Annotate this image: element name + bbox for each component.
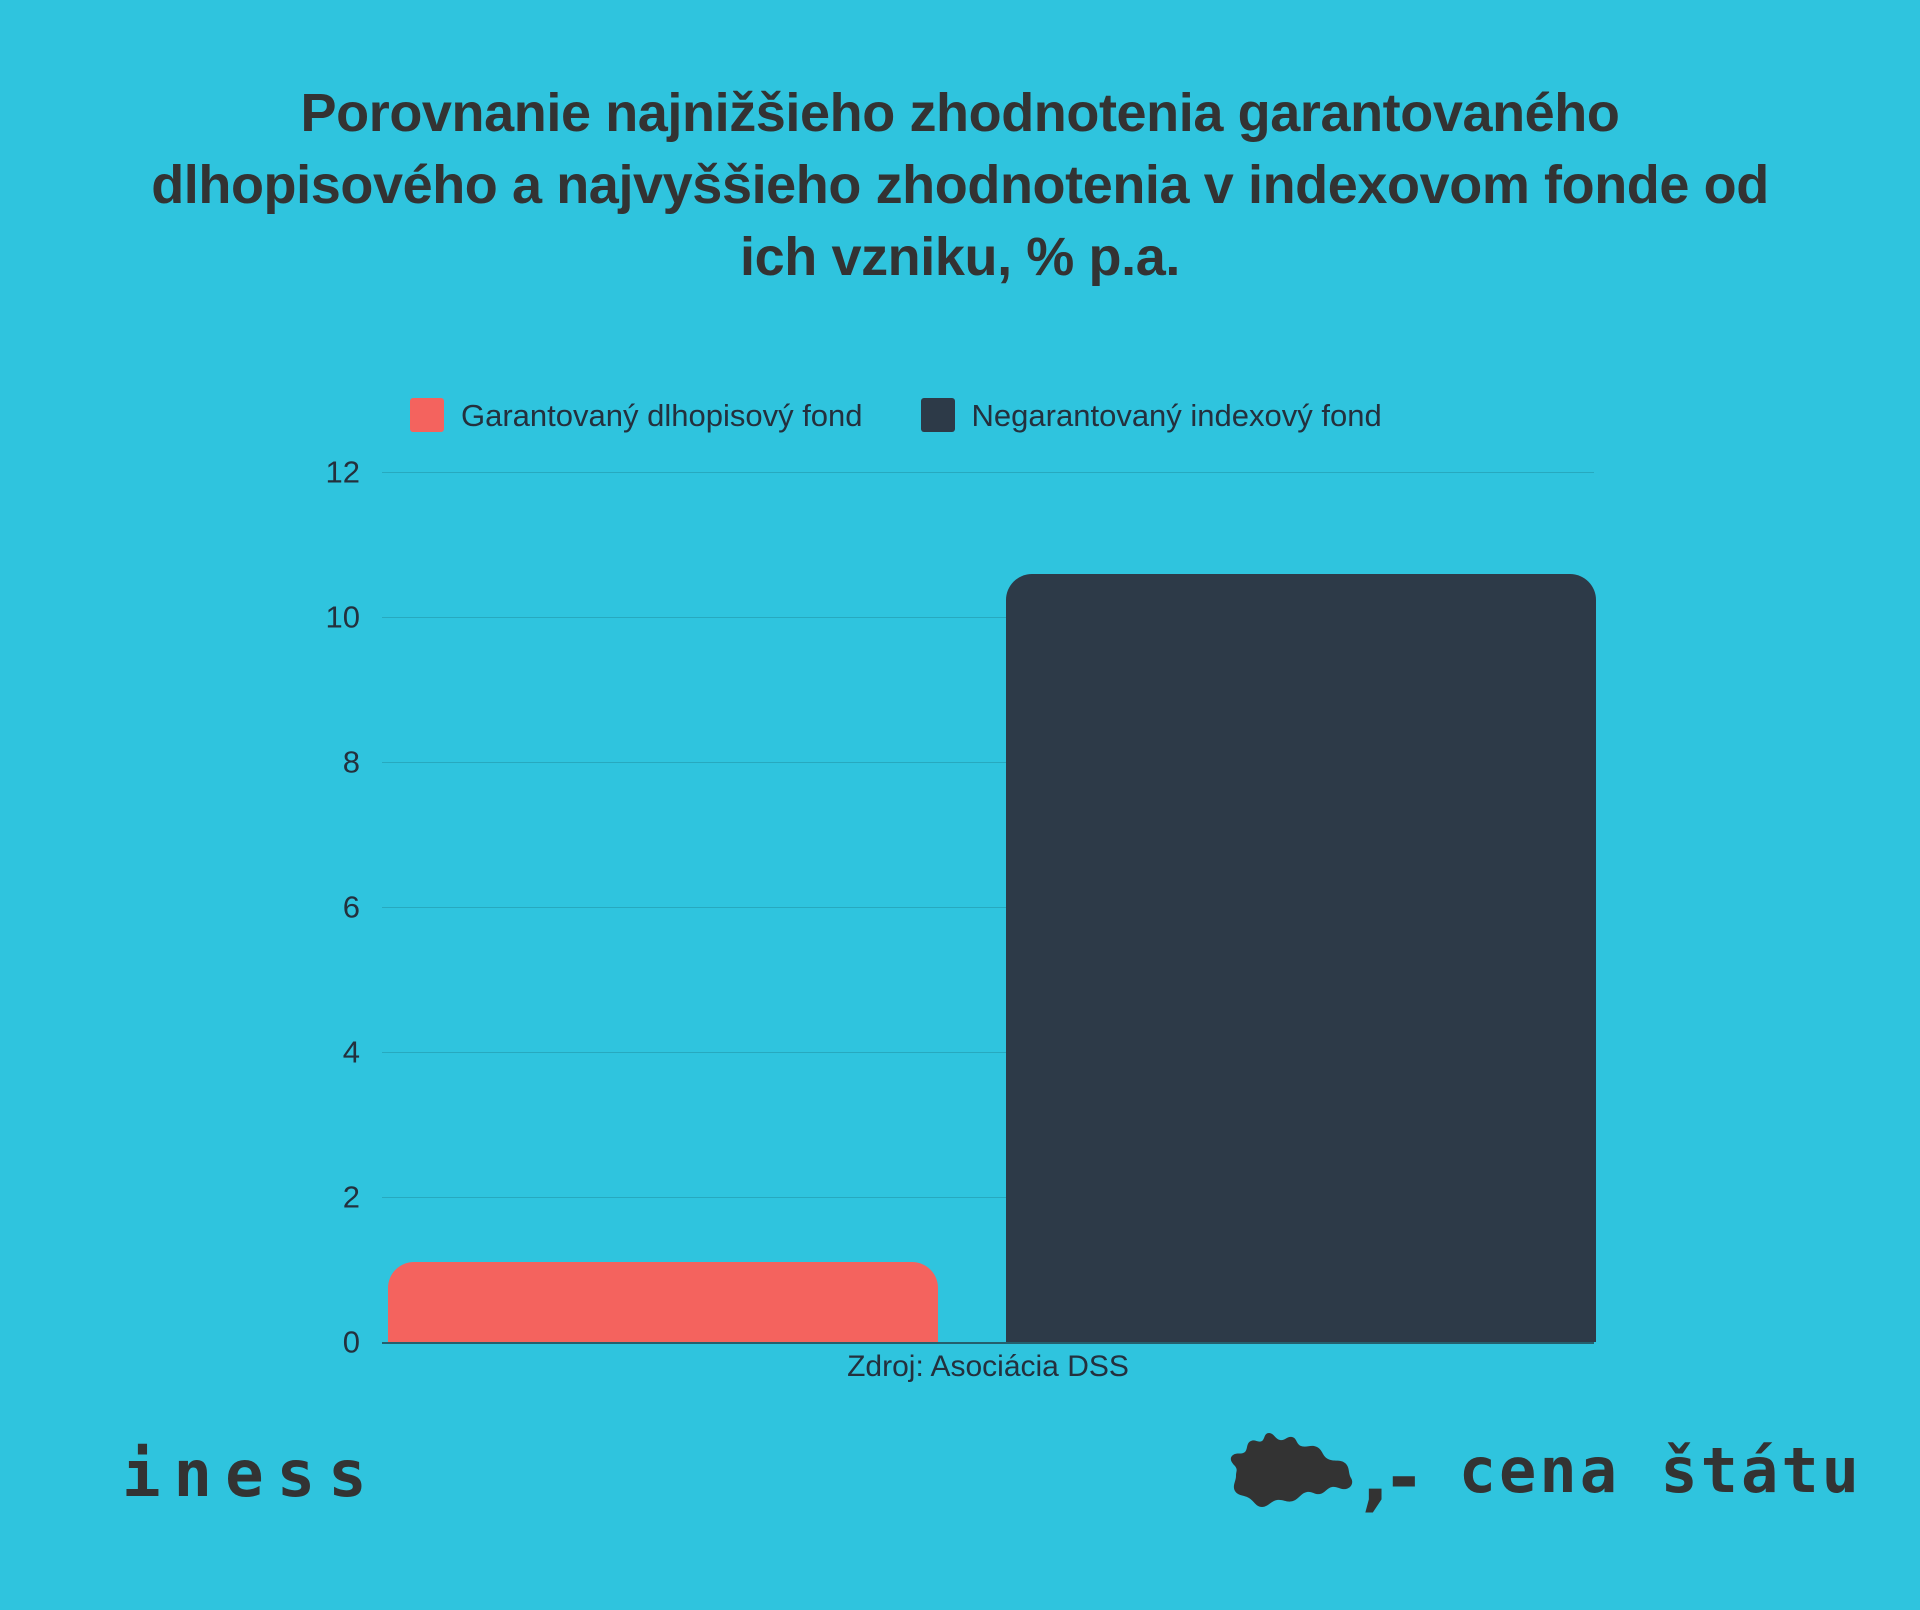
y-tick-8: 8 — [280, 747, 360, 778]
bar-garantovany-dlhopisovy-fond[interactable] — [388, 1262, 938, 1342]
slovakia-map-icon — [1227, 1428, 1359, 1514]
cena-statu-comma: ,- — [1361, 1456, 1418, 1499]
iness-logo[interactable]: iness — [122, 1443, 380, 1507]
y-tick-4: 4 — [280, 1037, 360, 1068]
cena-statu-wordmark: cena štátu — [1459, 1440, 1862, 1502]
y-tick-10: 10 — [280, 602, 360, 633]
infographic-page: Porovnanie najnižšieho zhodnotenia garan… — [0, 0, 1920, 1610]
cena-statu-logo[interactable]: ,- cena štátu — [1227, 1428, 1862, 1514]
y-tick-12: 12 — [280, 457, 360, 488]
y-tick-0: 0 — [280, 1327, 360, 1358]
bar-negarantovany-indexovy-fond[interactable] — [1006, 574, 1596, 1343]
y-axis-ticks: 12 10 8 6 4 2 0 — [280, 0, 360, 1610]
y-tick-2: 2 — [280, 1182, 360, 1213]
y-tick-6: 6 — [280, 892, 360, 923]
source-note: Zdroj: Asociácia DSS — [382, 1352, 1594, 1382]
gridline-12 — [382, 472, 1594, 473]
axis-baseline-zero — [382, 1342, 1594, 1344]
